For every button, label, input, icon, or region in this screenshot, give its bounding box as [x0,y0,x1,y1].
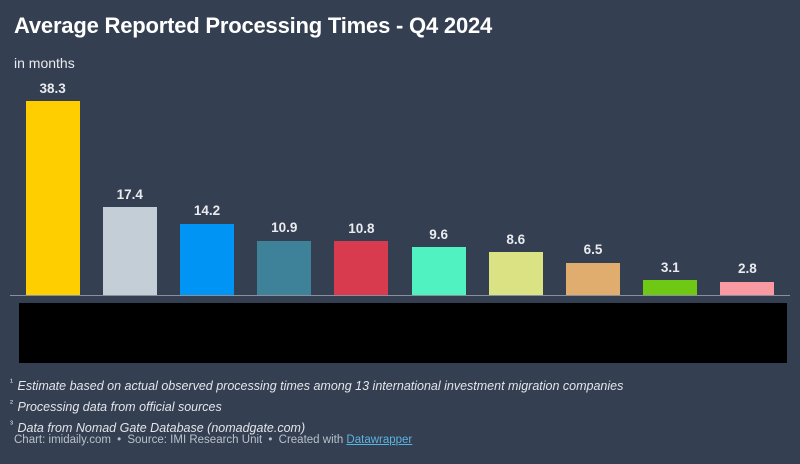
bar-rect[interactable] [643,280,697,296]
bar-rect[interactable] [489,252,543,296]
bar-value-label: 2.8 [738,262,757,276]
bar-rect[interactable] [180,224,234,296]
bar-slot: 9.6 [400,78,477,296]
bar-rect[interactable] [26,101,80,296]
axis-baseline [10,295,790,296]
plot-area: 38.317.414.210.910.89.68.66.53.12.8 [0,78,800,296]
footnotes-list: ¹ Estimate based on actual observed proc… [10,374,790,437]
footnote-text: Processing data from official sources [17,400,221,414]
bar-value-label: 14.2 [194,204,220,218]
bar-slot: 8.6 [477,78,554,296]
chart-title: Average Reported Processing Times - Q4 2… [14,13,492,39]
bar-value-label: 38.3 [39,82,65,96]
footnote-text: Estimate based on actual observed proces… [17,379,623,393]
bar-slot: 3.1 [632,78,709,296]
bar-rect[interactable] [334,241,388,296]
bar-value-label: 9.6 [429,228,448,242]
credit-separator-1: • [117,434,121,446]
bar-value-label: 10.8 [348,222,374,236]
chart-container: Average Reported Processing Times - Q4 2… [0,0,800,464]
bar-rect[interactable] [103,207,157,296]
credit-chart-source: Chart: imidaily.com [14,434,111,446]
bar-rect[interactable] [257,241,311,296]
bar-slot: 2.8 [709,78,786,296]
credit-created-with: Created with [279,434,344,446]
chart-subtitle: in months [14,55,75,71]
bar-rect[interactable] [566,263,620,296]
bar-slot: 38.3 [14,78,91,296]
bar-slot: 10.9 [246,78,323,296]
footnote: ¹ Estimate based on actual observed proc… [10,374,790,395]
category-labels-redaction-block [19,303,787,363]
footnote-marker: ¹ [10,377,13,387]
credit-data-source: Source: IMI Research Unit [127,434,262,446]
bar-rect[interactable] [720,282,774,296]
footnote-marker: ³ [10,419,13,429]
bar-series: 38.317.414.210.910.89.68.66.53.12.8 [14,78,786,296]
bar-value-label: 10.9 [271,221,297,235]
bar-value-label: 3.1 [661,261,680,275]
datawrapper-link[interactable]: Datawrapper [346,434,412,446]
footnote-marker: ² [10,398,13,408]
footnote: ² Processing data from official sources [10,395,790,416]
credit-separator-2: • [268,434,272,446]
bar-slot: 17.4 [91,78,168,296]
bar-slot: 6.5 [554,78,631,296]
bar-slot: 14.2 [168,78,245,296]
credit-line: Chart: imidaily.com • Source: IMI Resear… [14,434,412,446]
bar-rect[interactable] [412,247,466,296]
bar-value-label: 6.5 [584,243,603,257]
bar-value-label: 8.6 [506,233,525,247]
bar-value-label: 17.4 [117,188,143,202]
bar-slot: 10.8 [323,78,400,296]
